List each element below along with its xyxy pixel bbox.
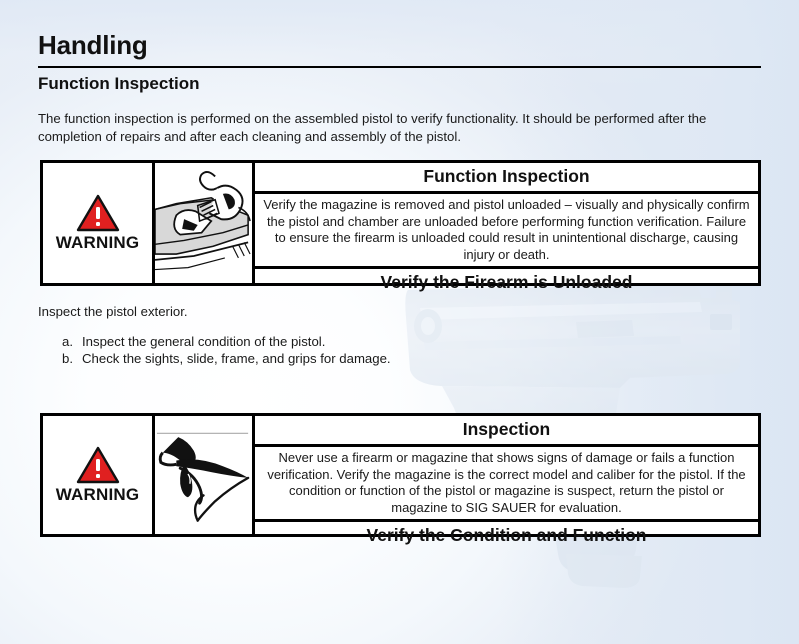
warning-title: Function Inspection (255, 163, 758, 194)
warning-body-cell: Function Inspection Verify the magazine … (255, 163, 758, 283)
list-item-label: Check the sights, slide, frame, and grip… (82, 350, 391, 367)
list-item-label: Inspect the general condition of the pis… (82, 333, 325, 350)
warning-body-cell: Inspection Never use a firearm or magazi… (255, 416, 758, 534)
warning-triangle-icon (76, 194, 120, 232)
intro-paragraph: The function inspection is performed on … (38, 110, 750, 146)
warning-label-cell: WARNING (43, 163, 155, 283)
warning-word: WARNING (56, 485, 140, 505)
list-item: b. Check the sights, slide, frame, and g… (62, 350, 582, 367)
list-marker: b. (62, 350, 76, 367)
inspect-lead-text: Inspect the pistol exterior. (38, 303, 558, 321)
warning-table-function-inspection: WARNING (40, 160, 761, 286)
document-page: Handling Function Inspection The functio… (0, 0, 799, 644)
document-content: Handling Function Inspection The functio… (0, 0, 799, 644)
warning-title: Inspection (255, 416, 758, 447)
warning-text: Never use a firearm or magazine that sho… (255, 447, 758, 522)
warning-footer: Verify the Firearm is Unloaded (255, 269, 758, 297)
page-title: Handling (38, 30, 148, 61)
warning-table-inspection: WARNING (40, 413, 761, 537)
warning-footer: Verify the Condition and Function (255, 522, 758, 550)
warning-text: Verify the magazine is removed and pisto… (255, 194, 758, 269)
chamber-check-illustration (155, 163, 255, 283)
warning-label-cell: WARNING (43, 416, 155, 534)
section-heading: Function Inspection (38, 74, 200, 94)
inspection-steps-list: a. Inspect the general condition of the … (62, 333, 582, 367)
list-marker: a. (62, 333, 76, 350)
warning-triangle-icon (76, 446, 120, 484)
title-divider (38, 66, 761, 68)
list-item: a. Inspect the general condition of the … (62, 333, 582, 350)
warning-word: WARNING (56, 233, 140, 253)
eye-illustration (155, 416, 255, 534)
